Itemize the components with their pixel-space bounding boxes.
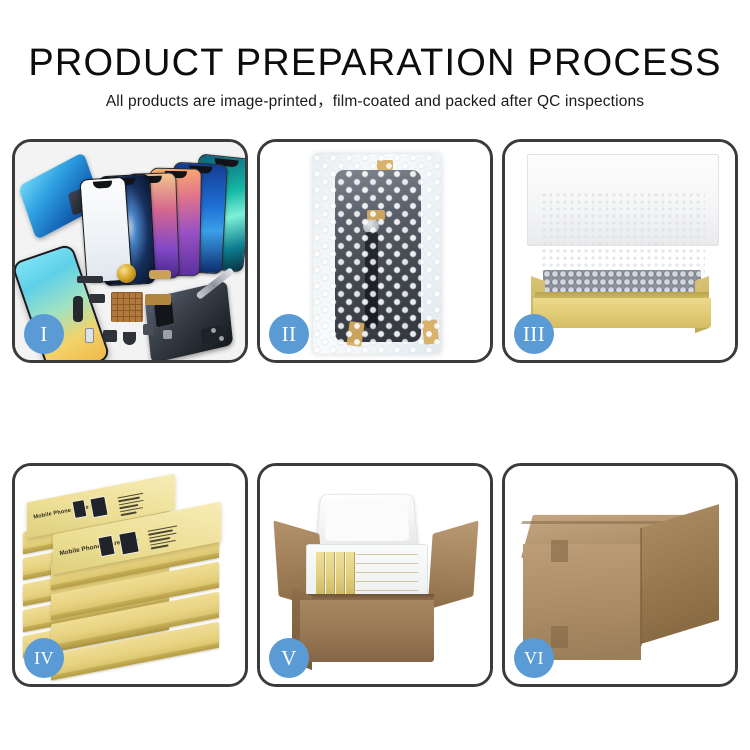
spare-part-icon — [143, 324, 154, 335]
step-badge-6: VI — [514, 638, 554, 678]
spare-part-icon — [145, 294, 171, 305]
process-step-panel-5[interactable]: V — [257, 463, 493, 687]
flex-cable-icon — [365, 232, 378, 328]
step-badge-4: IV — [24, 638, 64, 678]
box-label-thumbnail-icon — [118, 531, 140, 556]
page-header: PRODUCT PREPARATION PROCESS All products… — [0, 0, 750, 113]
coil-part-icon — [117, 264, 136, 283]
yellow-boxes-group — [316, 552, 420, 596]
screw-icon — [219, 336, 224, 341]
spare-part-icon — [163, 330, 172, 339]
yellow-box-icon — [346, 552, 355, 596]
carton-front-icon — [300, 600, 434, 662]
carton-tape-icon — [551, 540, 568, 562]
box-label-thumbnail-icon — [89, 496, 108, 519]
phone-fan-group — [93, 156, 245, 278]
step-badge-2: II — [269, 314, 309, 354]
bubble-wrap-bag-icon — [313, 154, 441, 354]
carton-edge-icon — [640, 528, 642, 646]
yellow-box-tray-icon — [356, 554, 418, 594]
spare-part-icon — [73, 296, 83, 322]
yellow-box-icon — [326, 552, 335, 596]
carton-tape-icon — [551, 626, 568, 648]
chip-board-icon — [111, 292, 143, 322]
tape-icon — [377, 160, 393, 170]
page-title: PRODUCT PREPARATION PROCESS — [0, 42, 750, 84]
notch-icon — [93, 180, 113, 188]
spare-part-icon — [85, 328, 94, 343]
screw-icon — [211, 328, 216, 333]
spare-part-icon — [77, 276, 103, 283]
carton-side-icon — [641, 504, 719, 644]
yellow-box-front-icon — [533, 298, 711, 328]
foam-sheet-icon — [541, 192, 705, 274]
process-step-panel-1[interactable]: I — [12, 139, 248, 363]
spare-part-icon — [89, 294, 105, 303]
foam-lid-icon — [315, 494, 418, 549]
yellow-box-icon — [316, 552, 325, 596]
step-badge-1: I — [24, 314, 64, 354]
camera-module-icon — [363, 218, 379, 234]
screen-assembly-icon — [335, 170, 421, 342]
step-badge-3: III — [514, 314, 554, 354]
page-subtitle: All products are image-printed，film-coat… — [0, 91, 750, 113]
tape-icon — [422, 319, 439, 344]
process-step-panel-3[interactable]: III — [502, 139, 738, 363]
process-step-panel-6[interactable]: VI — [502, 463, 738, 687]
spare-part-icon — [123, 332, 136, 345]
tape-icon — [367, 210, 385, 220]
yellow-box-icon — [336, 552, 345, 596]
process-step-panel-2[interactable]: II — [257, 139, 493, 363]
tape-icon — [346, 321, 364, 347]
carton-flap-right-icon — [427, 520, 478, 609]
process-step-grid: I II — [12, 139, 738, 687]
spare-part-icon — [149, 270, 171, 279]
spare-part-icon — [103, 330, 117, 342]
step-badge-5: V — [269, 638, 309, 678]
process-step-panel-4[interactable]: Mobile Phone Spare Parts Mobile Phone Sp… — [12, 463, 248, 687]
